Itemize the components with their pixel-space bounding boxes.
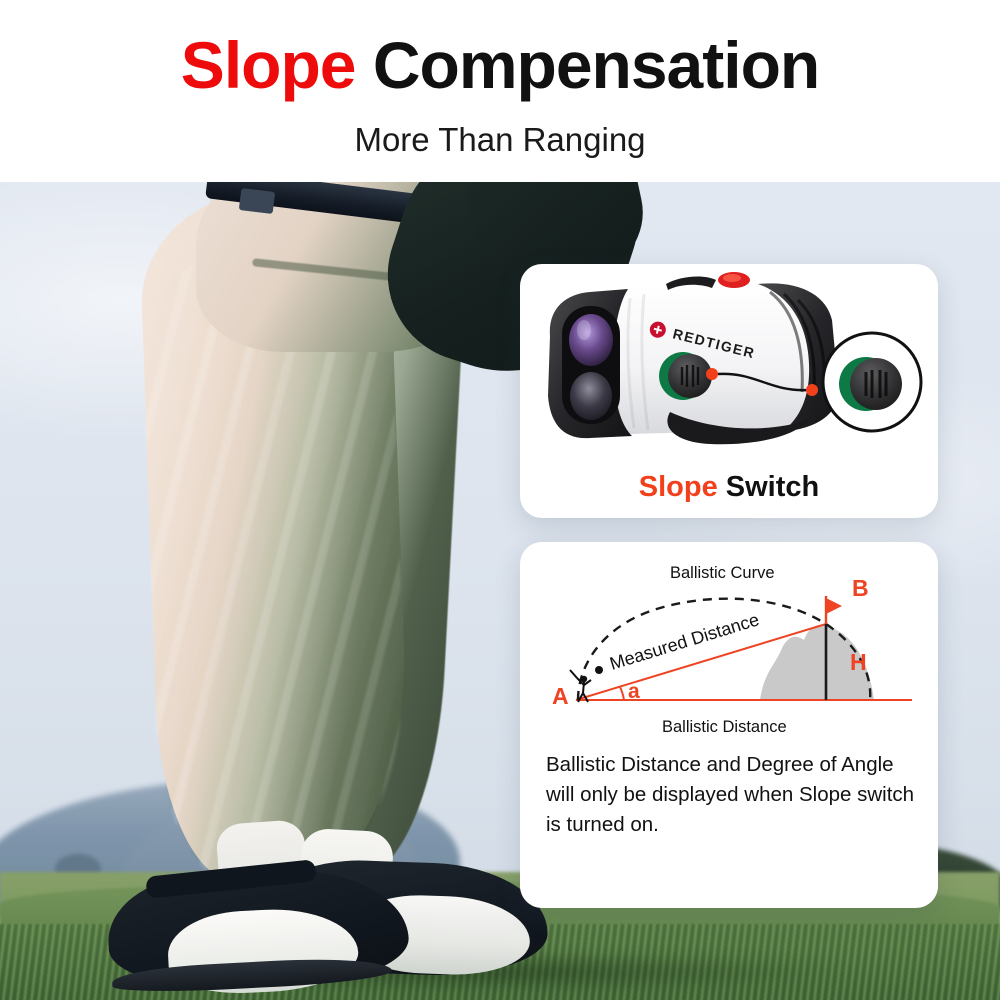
label-point-b: B xyxy=(852,575,869,601)
ballistic-diagram: Ballistic Curve B H A a Measured Distanc… xyxy=(520,552,938,744)
callout-zoom-content xyxy=(839,357,902,411)
lens-highlight xyxy=(577,320,591,340)
ballistic-diagram-svg: Ballistic Curve B H A a Measured Distanc… xyxy=(520,552,938,744)
page-title-highlight: Slope xyxy=(181,28,356,102)
lens-lower xyxy=(570,372,612,420)
slope-switch-caption: Slope Switch xyxy=(520,470,938,504)
page-title-rest: Compensation xyxy=(373,28,819,102)
header-banner: Slope Compensation More Than Ranging xyxy=(0,0,1000,182)
slope-switch-caption-rest: Switch xyxy=(726,471,819,503)
page-subtitle: More Than Ranging xyxy=(0,120,1000,160)
flag-marker xyxy=(826,596,842,624)
rangefinder-svg: REDTIGER xyxy=(520,264,938,454)
ballistic-diagram-card: Ballistic Curve B H A a Measured Distanc… xyxy=(520,542,938,908)
label-height: H xyxy=(850,649,867,675)
page-title-spacer xyxy=(356,28,373,102)
label-ballistic-curve: Ballistic Curve xyxy=(670,564,775,582)
label-point-a: A xyxy=(552,683,569,709)
belt-buckle xyxy=(239,188,275,214)
callout-dot-end xyxy=(806,384,818,396)
slope-switch-caption-highlight: Slope xyxy=(639,471,718,503)
angle-arc xyxy=(620,687,624,700)
label-angle: a xyxy=(628,680,640,703)
diagram-note-text: Ballistic Distance and Degree of Angle w… xyxy=(546,750,918,840)
slope-switch-card: REDTIGER xyxy=(520,264,938,518)
slope-switch-button xyxy=(668,354,712,398)
lens-upper xyxy=(569,314,613,366)
product-feature-page: Slope Compensation More Than Ranging xyxy=(0,0,1000,1000)
golf-ball xyxy=(595,666,603,674)
hill-shape xyxy=(760,625,826,700)
rangefinder-illustration: REDTIGER xyxy=(520,264,938,454)
caption-space xyxy=(718,471,726,503)
label-ballistic-distance: Ballistic Distance xyxy=(662,718,787,736)
callout-dot-start xyxy=(706,368,718,380)
page-title: Slope Compensation xyxy=(0,28,1000,102)
power-button-gloss xyxy=(723,274,741,282)
